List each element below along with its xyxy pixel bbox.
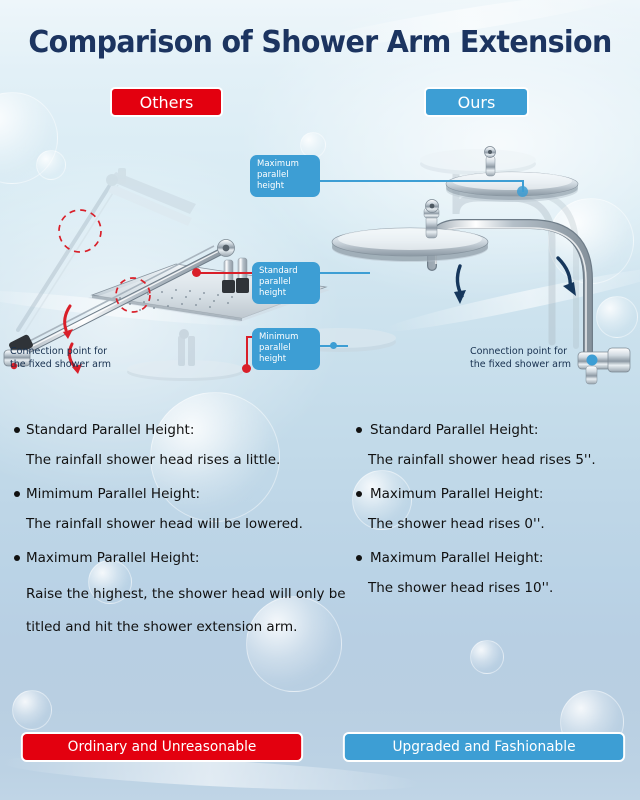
tag-others-label: Others (140, 93, 194, 112)
tag-ours-label: Ours (458, 93, 496, 112)
tag-ours: Ours (424, 87, 529, 117)
bubble-decoration (36, 150, 66, 180)
page-title: Comparison of Shower Arm Extension (16, 25, 624, 60)
bubble-decoration (12, 690, 52, 730)
ours-feature-list: Standard Parallel Height: The rainfall s… (356, 420, 640, 612)
list-item-body: The rainfall shower head will be lowered… (26, 514, 354, 534)
bullet-icon (14, 427, 20, 433)
bubble-decoration (0, 92, 58, 184)
list-item-heading: Maximum Parallel Height: (356, 484, 640, 504)
list-item-body: The shower head rises 10''. (368, 578, 640, 598)
bullet-icon (356, 555, 362, 561)
list-item-heading-text: Maximum Parallel Height: (370, 548, 543, 568)
others-feature-list: Standard Parallel Height: The rainfall s… (14, 420, 354, 650)
list-item-heading-text: Maximum Parallel Height: (370, 484, 543, 504)
callout-line-standard-right (318, 272, 370, 274)
list-item-heading-text: Mimimum Parallel Height: (26, 484, 200, 504)
banner-others-verdict: Ordinary and Unreasonable (21, 732, 303, 762)
callout-dot-standard-left (192, 268, 201, 277)
banner-others-label: Ordinary and Unreasonable (68, 739, 257, 755)
list-item-heading: Maximum Parallel Height: (356, 548, 640, 568)
bullet-icon (356, 491, 362, 497)
list-item-heading: Mimimum Parallel Height: (14, 484, 354, 504)
callout-line-standard-left (196, 272, 254, 274)
list-item-heading: Standard Parallel Height: (356, 420, 640, 440)
connection-caption-left: Connection point for the fixed shower ar… (10, 346, 111, 371)
list-item-heading-text: Maximum Parallel Height: (26, 548, 199, 568)
infographic-page: Comparison of Shower Arm Extension Other… (0, 0, 640, 800)
bubble-decoration (596, 296, 638, 338)
bullet-icon (14, 491, 20, 497)
bullet-icon (14, 555, 20, 561)
callout-dot-maximum (517, 186, 528, 197)
connection-caption-right: Connection point for the fixed shower ar… (470, 346, 571, 371)
callout-line-maximum-horizontal (318, 180, 524, 182)
callout-dot-minimum (242, 364, 251, 373)
bullet-icon (356, 427, 362, 433)
list-item-body: The rainfall shower head rises 5''. (368, 450, 640, 470)
callout-maximum-parallel-height: Maximum parallel height (250, 155, 320, 197)
bubble-decoration (470, 640, 504, 674)
callout-dot-minimum-right (330, 342, 337, 349)
banner-ours-verdict: Upgraded and Fashionable (343, 732, 625, 762)
light-streak (0, 284, 260, 331)
banner-ours-label: Upgraded and Fashionable (392, 739, 575, 755)
callout-standard-parallel-height: Standard parallel height (252, 262, 320, 304)
list-item-body: Raise the highest, the shower head will … (26, 578, 354, 644)
light-streak (381, 259, 640, 339)
list-item-body: The rainfall shower head rises a little. (26, 450, 354, 470)
list-item-heading: Standard Parallel Height: (14, 420, 354, 440)
list-item-heading: Maximum Parallel Height: (14, 548, 354, 568)
list-item-heading-text: Standard Parallel Height: (26, 420, 194, 440)
bubble-decoration (548, 198, 634, 284)
list-item-body: The shower head rises 0''. (368, 514, 640, 534)
tag-others: Others (110, 87, 223, 117)
callout-minimum-parallel-height: Minimum parallel height (252, 328, 320, 370)
list-item-heading-text: Standard Parallel Height: (370, 420, 538, 440)
